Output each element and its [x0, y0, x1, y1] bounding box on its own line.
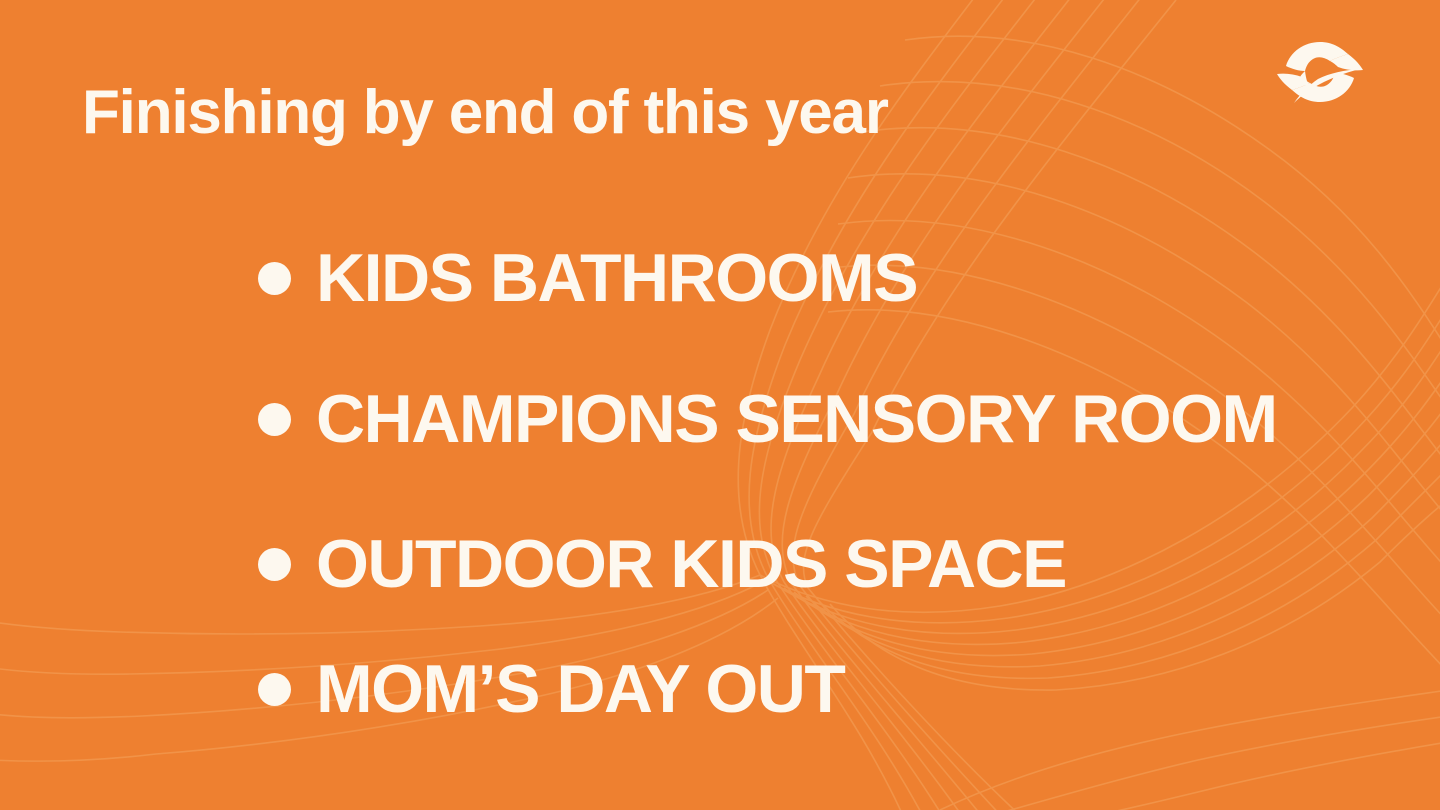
filled-circle-bullet-icon	[258, 403, 291, 436]
list-item: MOM’S DAY OUT	[258, 647, 1358, 731]
filled-circle-bullet-icon	[258, 673, 291, 706]
list-item: KIDS BATHROOMS	[258, 236, 1358, 320]
list-item-label: CHAMPIONS SENSORY ROOM	[316, 385, 1277, 453]
list-item: OUTDOOR KIDS SPACE	[258, 522, 1358, 606]
list-item: CHAMPIONS SENSORY ROOM	[258, 377, 1358, 461]
presentation-slide: Finishing by end of this year KIDS BATHR…	[0, 0, 1440, 810]
bullet-list: KIDS BATHROOMS CHAMPIONS SENSORY ROOM OU…	[258, 236, 1358, 731]
slide-title: Finishing by end of this year	[82, 82, 888, 144]
list-item-label: MOM’S DAY OUT	[316, 655, 844, 723]
filled-circle-bullet-icon	[258, 262, 291, 295]
list-item-label: KIDS BATHROOMS	[316, 244, 917, 312]
abstract-swoosh-logo-icon	[1272, 26, 1368, 118]
filled-circle-bullet-icon	[258, 548, 291, 581]
list-item-label: OUTDOOR KIDS SPACE	[316, 530, 1066, 598]
